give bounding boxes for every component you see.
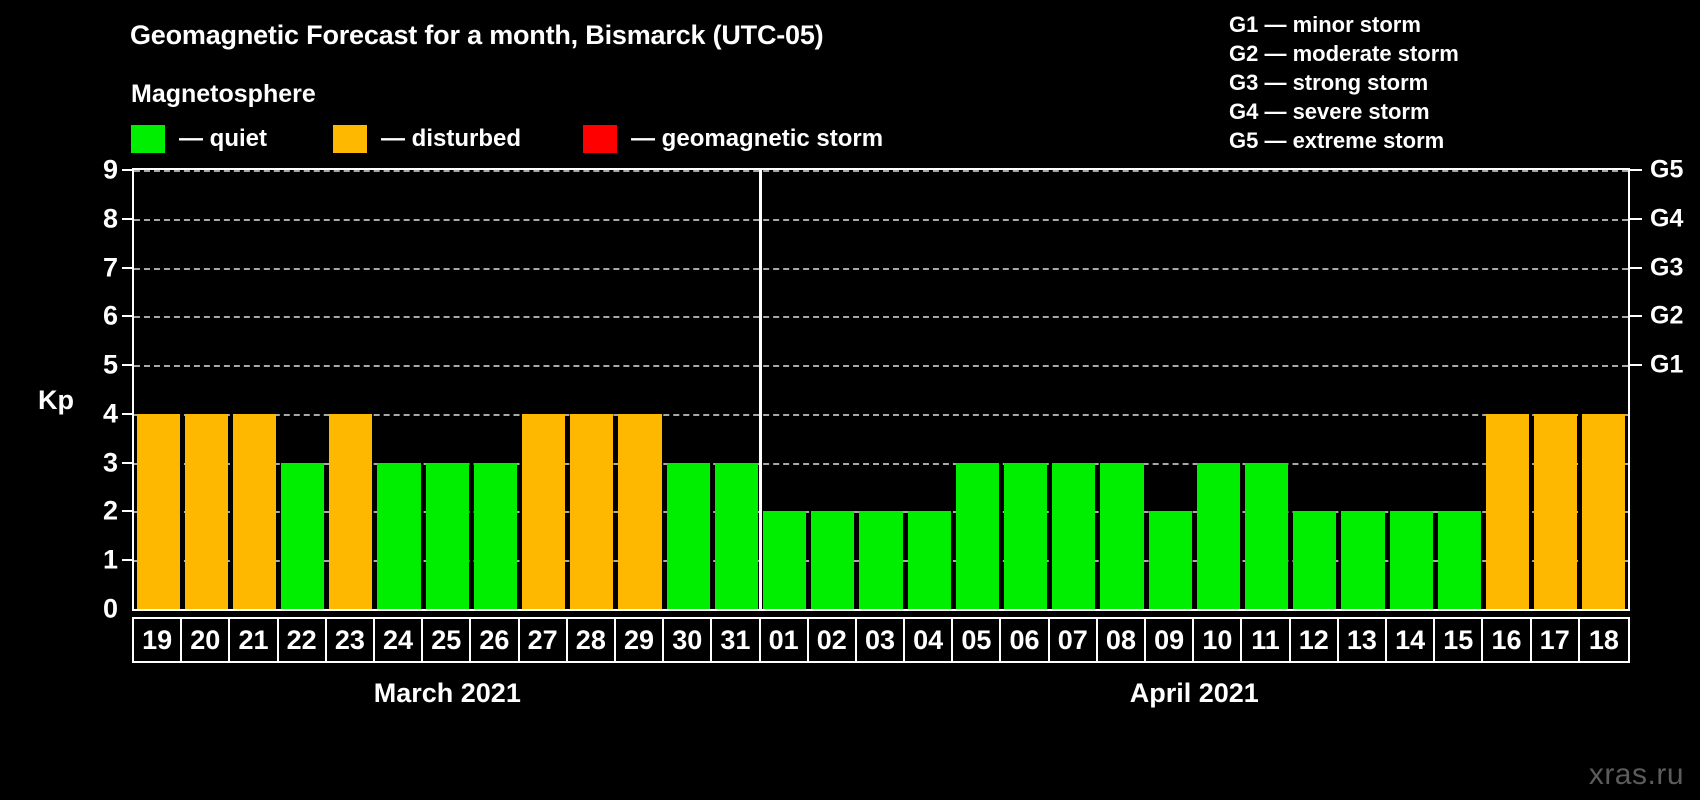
month-divider [759, 170, 762, 609]
bar-day-08[interactable] [1100, 463, 1143, 609]
bar-day-02[interactable] [811, 511, 854, 609]
day-label-14[interactable]: 14 [1387, 619, 1435, 661]
bar-day-24[interactable] [377, 463, 420, 609]
bar-day-10[interactable] [1197, 463, 1240, 609]
bar-day-19[interactable] [137, 414, 180, 609]
g-tick-mark-G1 [1630, 364, 1642, 366]
g-tick-mark-G5 [1630, 169, 1642, 171]
legend-swatch-disturbed [333, 125, 367, 153]
y-tick-mark-4 [122, 413, 134, 415]
legend-label-quiet: — quiet [179, 125, 267, 153]
geomagnetic-forecast-chart: Geomagnetic Forecast for a month, Bismar… [0, 0, 1700, 800]
y-tick-label-0: 0 [78, 594, 118, 625]
y-tick-label-2: 2 [78, 496, 118, 527]
bar-day-03[interactable] [859, 511, 902, 609]
plot-inner [134, 170, 1628, 609]
day-label-15[interactable]: 15 [1435, 619, 1483, 661]
y-tick-mark-3 [122, 462, 134, 464]
bar-day-01[interactable] [763, 511, 806, 609]
plot-area [132, 168, 1630, 611]
day-label-25[interactable]: 25 [423, 619, 471, 661]
day-label-01[interactable]: 01 [761, 619, 809, 661]
bar-day-26[interactable] [474, 463, 517, 609]
bar-day-20[interactable] [185, 414, 228, 609]
bar-day-14[interactable] [1390, 511, 1433, 609]
day-label-30[interactable]: 30 [664, 619, 712, 661]
g-scale-line-5: G5 — extreme storm [1229, 126, 1459, 155]
day-label-04[interactable]: 04 [905, 619, 953, 661]
g-tick-label-G2: G2 [1650, 302, 1683, 331]
g-tick-label-G3: G3 [1650, 253, 1683, 282]
day-label-31[interactable]: 31 [712, 619, 760, 661]
day-label-16[interactable]: 16 [1483, 619, 1531, 661]
y-tick-mark-6 [122, 315, 134, 317]
day-label-strip: 1920212223242526272829303101020304050607… [132, 617, 1630, 663]
bar-day-25[interactable] [426, 463, 469, 609]
day-label-22[interactable]: 22 [279, 619, 327, 661]
bar-day-06[interactable] [1004, 463, 1047, 609]
g-scale-line-3: G3 — strong storm [1229, 68, 1459, 97]
y-tick-label-7: 7 [78, 252, 118, 283]
day-label-24[interactable]: 24 [375, 619, 423, 661]
day-label-26[interactable]: 26 [471, 619, 519, 661]
legend-label-storm: — geomagnetic storm [631, 125, 883, 153]
legend-item-quiet: — quiet [131, 124, 267, 154]
bar-day-28[interactable] [570, 414, 613, 609]
day-label-03[interactable]: 03 [857, 619, 905, 661]
bar-day-17[interactable] [1534, 414, 1577, 609]
page-title: Geomagnetic Forecast for a month, Bismar… [130, 20, 823, 51]
day-label-27[interactable]: 27 [520, 619, 568, 661]
bar-day-18[interactable] [1582, 414, 1625, 609]
y-tick-mark-5 [122, 364, 134, 366]
day-label-08[interactable]: 08 [1098, 619, 1146, 661]
day-label-19[interactable]: 19 [134, 619, 182, 661]
day-label-21[interactable]: 21 [230, 619, 278, 661]
bar-day-13[interactable] [1341, 511, 1384, 609]
day-label-17[interactable]: 17 [1532, 619, 1580, 661]
g-scale-key: G1 — minor stormG2 — moderate stormG3 — … [1229, 10, 1459, 155]
bar-day-11[interactable] [1245, 463, 1288, 609]
g-tick-label-G4: G4 [1650, 204, 1683, 233]
day-label-18[interactable]: 18 [1580, 619, 1628, 661]
day-label-02[interactable]: 02 [809, 619, 857, 661]
y-tick-mark-7 [122, 267, 134, 269]
bar-day-16[interactable] [1486, 414, 1529, 609]
day-label-10[interactable]: 10 [1194, 619, 1242, 661]
g-tick-mark-G2 [1630, 315, 1642, 317]
month-caption-0: March 2021 [374, 678, 521, 709]
day-label-23[interactable]: 23 [327, 619, 375, 661]
watermark: xras.ru [1589, 758, 1684, 792]
bar-day-15[interactable] [1438, 511, 1481, 609]
legend-item-storm: — geomagnetic storm [583, 124, 883, 154]
bar-day-27[interactable] [522, 414, 565, 609]
day-label-12[interactable]: 12 [1291, 619, 1339, 661]
bar-day-30[interactable] [667, 463, 710, 609]
day-label-11[interactable]: 11 [1242, 619, 1290, 661]
day-label-13[interactable]: 13 [1339, 619, 1387, 661]
y-tick-label-4: 4 [78, 398, 118, 429]
y-tick-label-5: 5 [78, 350, 118, 381]
bar-day-21[interactable] [233, 414, 276, 609]
day-label-28[interactable]: 28 [568, 619, 616, 661]
legend-heading: Magnetosphere [131, 80, 316, 109]
y-tick-label-8: 8 [78, 203, 118, 234]
day-label-29[interactable]: 29 [616, 619, 664, 661]
bars [134, 170, 1628, 609]
g-scale-line-1: G1 — minor storm [1229, 10, 1459, 39]
bar-day-05[interactable] [956, 463, 999, 609]
g-tick-mark-G4 [1630, 218, 1642, 220]
bar-day-07[interactable] [1052, 463, 1095, 609]
legend-swatch-quiet [131, 125, 165, 153]
day-label-20[interactable]: 20 [182, 619, 230, 661]
bar-day-29[interactable] [618, 414, 661, 609]
g-tick-mark-G3 [1630, 267, 1642, 269]
month-caption-1: April 2021 [1130, 678, 1259, 709]
bar-day-23[interactable] [329, 414, 372, 609]
legend-swatch-storm [583, 125, 617, 153]
day-label-09[interactable]: 09 [1146, 619, 1194, 661]
legend-item-disturbed: — disturbed [333, 124, 521, 154]
bar-day-31[interactable] [715, 463, 758, 609]
y-tick-mark-2 [122, 510, 134, 512]
y-tick-mark-1 [122, 559, 134, 561]
g-scale-line-4: G4 — severe storm [1229, 97, 1459, 126]
y-axis-title: Kp [38, 385, 74, 416]
legend: — quiet — disturbed — geomagnetic storm [131, 124, 883, 154]
legend-label-disturbed: — disturbed [381, 125, 521, 153]
bar-day-12[interactable] [1293, 511, 1336, 609]
day-label-06[interactable]: 06 [1001, 619, 1049, 661]
day-label-07[interactable]: 07 [1050, 619, 1098, 661]
y-tick-label-1: 1 [78, 545, 118, 576]
bar-day-22[interactable] [281, 463, 324, 609]
y-tick-mark-9 [122, 169, 134, 171]
y-tick-label-3: 3 [78, 447, 118, 478]
g-scale-line-2: G2 — moderate storm [1229, 39, 1459, 68]
bar-day-09[interactable] [1149, 511, 1192, 609]
day-label-05[interactable]: 05 [953, 619, 1001, 661]
g-tick-label-G1: G1 [1650, 351, 1683, 380]
y-tick-label-9: 9 [78, 155, 118, 186]
y-tick-label-6: 6 [78, 301, 118, 332]
bar-day-04[interactable] [908, 511, 951, 609]
y-tick-mark-8 [122, 218, 134, 220]
g-tick-label-G5: G5 [1650, 156, 1683, 185]
